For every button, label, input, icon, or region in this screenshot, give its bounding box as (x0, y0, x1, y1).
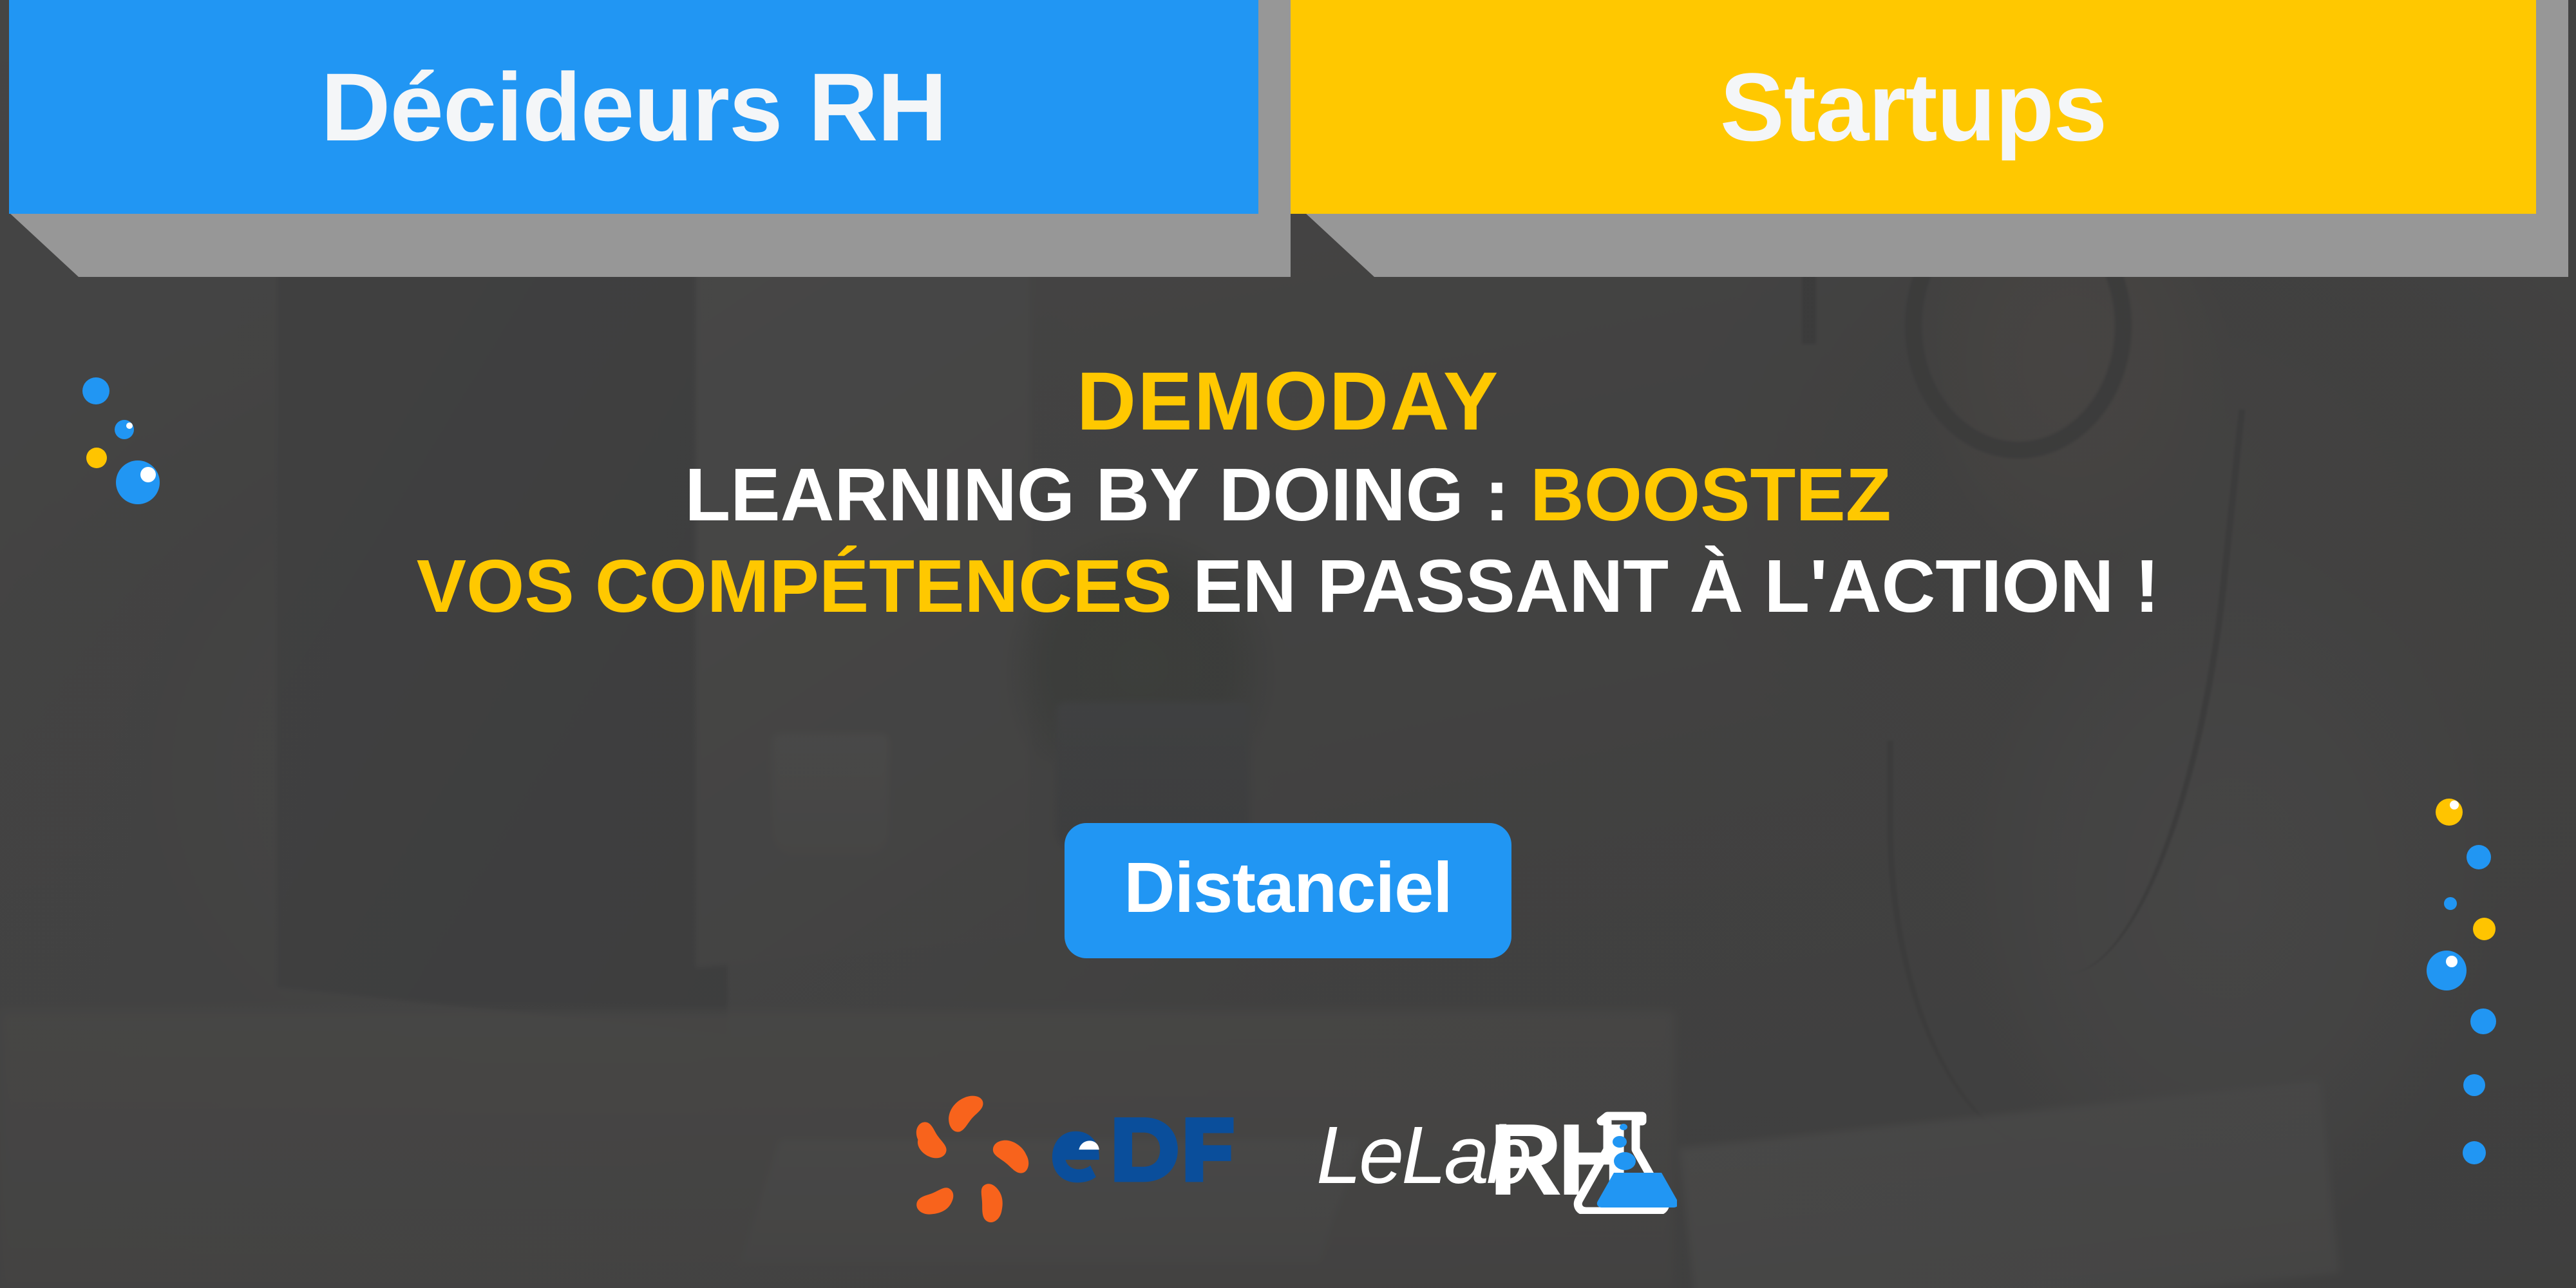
tab-decideurs-rh-label: Décideurs RH (321, 59, 947, 155)
headline-block: DEMODAY LEARNING BY DOING : BOOSTEZ VOS … (0, 361, 2576, 623)
tab-shadow-decideurs (9, 213, 1258, 277)
headline-line-2-accent: BOOSTEZ (1530, 453, 1891, 536)
tab-shadow-startups (1305, 213, 2566, 277)
tab-startups-label: Startups (1720, 59, 2107, 155)
lelabrh-logo[interactable]: LeLab RH (1316, 1098, 1677, 1214)
tab-startups[interactable]: Startups (1291, 0, 2536, 214)
edf-logo[interactable] (899, 1088, 1238, 1224)
distanciel-button[interactable]: Distanciel (1065, 823, 1511, 958)
cta-container: Distanciel (0, 823, 2576, 958)
tab-decideurs-rh[interactable]: Décideurs RH (9, 0, 1258, 214)
edf-sun-icon (899, 1088, 1034, 1224)
headline-eyebrow: DEMODAY (0, 361, 2576, 443)
decorative-bubble (2436, 799, 2463, 826)
partner-logos: LeLab RH (0, 1088, 2576, 1224)
decorative-bubble (2470, 1009, 2496, 1034)
headline-line-3-white: EN PASSANT À L'ACTION ! (1193, 544, 2159, 628)
headline-line-2-white: LEARNING BY DOING : (685, 453, 1530, 536)
headline-line-3-accent: VOS COMPÉTENCES (417, 544, 1193, 628)
edf-wordmark (1048, 1115, 1238, 1197)
bubble-highlight (2450, 800, 2459, 810)
promo-banner: Décideurs RH Startups DEMODAY LEARNING B… (0, 0, 2576, 1288)
tab-shadow-middle (1255, 0, 1291, 277)
headline-line-2: LEARNING BY DOING : BOOSTEZ (0, 457, 2576, 532)
audience-tabs: Décideurs RH Startups (0, 0, 2576, 283)
headline-line-3: VOS COMPÉTENCES EN PASSANT À L'ACTION ! (0, 549, 2576, 623)
